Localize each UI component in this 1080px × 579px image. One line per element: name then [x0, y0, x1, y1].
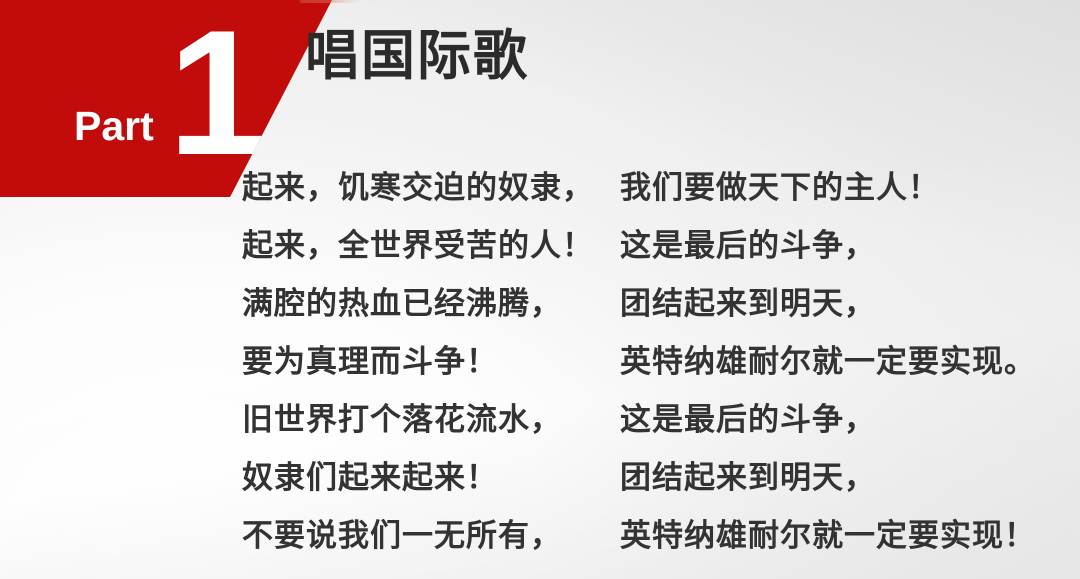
- lyric-line: 旧世界打个落花流水，: [242, 387, 594, 445]
- lyrics-column-left: 起来，饥寒交迫的奴隶， 起来，全世界受苦的人！ 满腔的热血已经沸腾， 要为真理而…: [242, 155, 594, 561]
- lyric-line: 起来，全世界受苦的人！: [242, 213, 594, 271]
- lyric-line: 这是最后的斗争，: [620, 387, 1036, 445]
- lyric-line: 奴隶们起来起来！: [242, 445, 594, 503]
- lyric-line: 起来，饥寒交迫的奴隶，: [242, 155, 594, 213]
- lyric-line: 不要说我们一无所有，: [242, 503, 594, 561]
- lyric-line: 满腔的热血已经沸腾，: [242, 271, 594, 329]
- lyric-line: 这是最后的斗争，: [620, 213, 1036, 271]
- lyric-line: 英特纳雄耐尔就一定要实现。: [620, 329, 1036, 387]
- slide-canvas: 1 Part 唱国际歌 起来，饥寒交迫的奴隶， 起来，全世界受苦的人！ 满腔的热…: [0, 0, 1080, 579]
- lyric-line: 我们要做天下的主人！: [620, 155, 1036, 213]
- part-label: Part: [74, 106, 154, 147]
- lyrics-column-right: 我们要做天下的主人！ 这是最后的斗争， 团结起来到明天， 英特纳雄耐尔就一定要实…: [620, 155, 1036, 561]
- lyric-line: 要为真理而斗争！: [242, 329, 594, 387]
- lyric-line: 团结起来到明天，: [620, 271, 1036, 329]
- page-title: 唱国际歌: [305, 25, 529, 87]
- lyrics-block: 起来，饥寒交迫的奴隶， 起来，全世界受苦的人！ 满腔的热血已经沸腾， 要为真理而…: [0, 155, 1080, 579]
- lyric-line: 团结起来到明天，: [620, 445, 1036, 503]
- lyric-line: 英特纳雄耐尔就一定要实现！: [620, 503, 1036, 561]
